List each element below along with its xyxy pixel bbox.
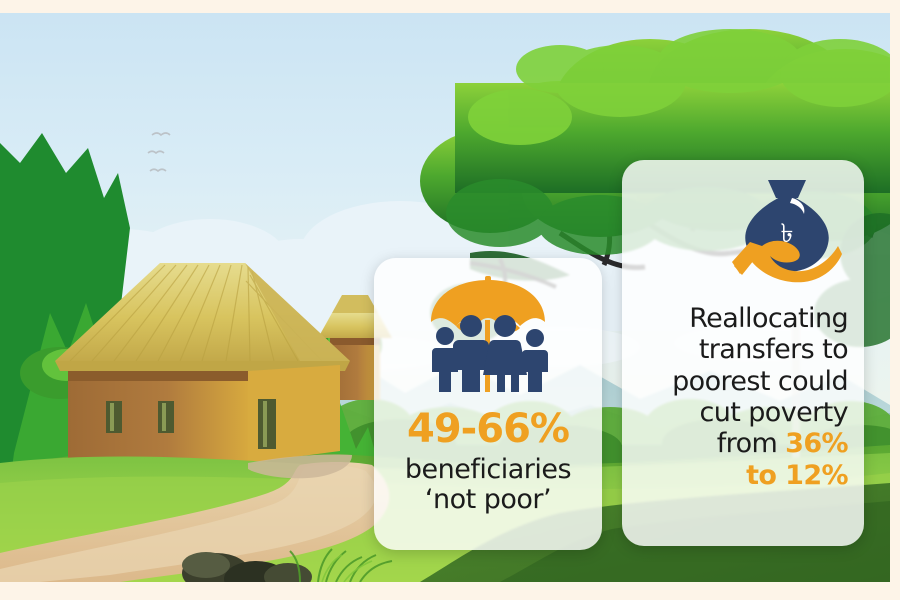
claim-line-5-prefix: from	[717, 428, 785, 459]
money-bag-in-hand-icon: ৳	[732, 176, 842, 289]
claim-line-3: poorest could	[672, 366, 848, 397]
money-bag-neck	[768, 180, 806, 198]
claim-line-2: transfers to	[699, 334, 848, 365]
caption-line-1: beneficiaries	[405, 454, 571, 485]
poverty-rate-before: 36%	[785, 428, 848, 459]
frame-bottom-strip	[0, 582, 900, 600]
frame-right-strip	[890, 0, 900, 600]
infographic-canvas: 49-66% beneficiaries ‘not poor’ ৳	[0, 0, 900, 600]
family-under-umbrella-icon	[423, 276, 553, 399]
stat-percentage: 49-66%	[407, 409, 569, 449]
beneficiaries-card: 49-66% beneficiaries ‘not poor’	[374, 258, 602, 550]
reallocation-card: ৳ Reallocating transfers to poorest coul…	[622, 160, 864, 546]
reallocation-statement: Reallocating transfers to poorest could …	[638, 303, 848, 491]
claim-line-6-prefix: to	[746, 460, 785, 491]
caption-line-2: ‘not poor’	[425, 484, 551, 515]
stat-caption: beneficiaries ‘not poor’	[405, 455, 571, 515]
umbrella-tip	[485, 276, 491, 288]
poverty-rate-after: 12%	[785, 460, 848, 491]
claim-line-4: cut poverty	[700, 397, 848, 428]
frame-top-strip	[0, 0, 900, 13]
claim-line-1: Reallocating	[689, 303, 848, 334]
